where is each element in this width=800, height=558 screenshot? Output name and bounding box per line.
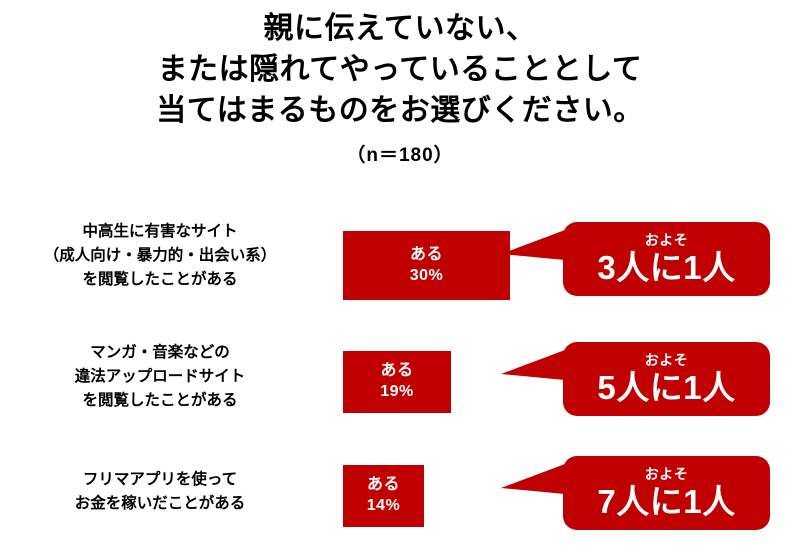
bar-segment: ある 30% <box>343 231 510 300</box>
chart-row: マンガ・音楽などの 違法アップロードサイト を閲覧したことがある ある 19% … <box>0 324 800 440</box>
callout-main-text: 5人に1人 <box>597 369 735 406</box>
row-label-line: マンガ・音楽などの <box>10 341 310 365</box>
callout-small-text: およそ <box>645 466 689 482</box>
bar-percent-value: 19% <box>380 381 414 403</box>
bar-answer-label: ある <box>380 361 413 381</box>
row-label: フリマアプリを使って お金を稼いだことがある <box>10 468 310 516</box>
bar-answer-label: ある <box>410 245 443 265</box>
callout-main-text: 7人に1人 <box>597 483 735 520</box>
callout-small-text: およそ <box>645 232 689 248</box>
callout-tail-icon <box>501 464 565 498</box>
chart-row: 中高生に有害なサイト （成人向け・暴力的・出会い系） を閲覧したことがある ある… <box>0 208 800 324</box>
survey-bar-chart: 中高生に有害なサイト （成人向け・暴力的・出会い系） を閲覧したことがある ある… <box>0 208 800 556</box>
callout-main-text: 3人に1人 <box>597 249 735 286</box>
row-label-line: 違法アップロードサイト <box>10 365 310 389</box>
callout-bubble: およそ 7人に1人 <box>563 456 770 530</box>
row-label-line: を閲覧したことがある <box>10 389 310 413</box>
row-label-line: フリマアプリを使って <box>10 468 310 492</box>
callout-bubble: およそ 3人に1人 <box>563 222 770 296</box>
title-line-1: 親に伝えていない、 <box>0 8 800 49</box>
row-label-line: 中高生に有害なサイト <box>10 220 310 244</box>
title-line-3: 当てはまるものをお選びください。 <box>0 90 800 131</box>
row-label: マンガ・音楽などの 違法アップロードサイト を閲覧したことがある <box>10 341 310 413</box>
row-label-line: を閲覧したことがある <box>10 268 310 292</box>
bar-answer-label: ある <box>367 475 400 495</box>
page-title: 親に伝えていない、 または隠れてやっていることとして 当てはまるものをお選びくだ… <box>0 8 800 167</box>
bar-segment: ある 19% <box>343 351 451 413</box>
callout-bubble: およそ 5人に1人 <box>563 342 770 416</box>
row-label-line: （成人向け・暴力的・出会い系） <box>10 244 310 268</box>
callout-tail-icon <box>501 350 565 384</box>
callout-tail-icon <box>501 230 565 264</box>
bar-segment: ある 14% <box>343 465 424 527</box>
row-label-line: お金を稼いだことがある <box>10 492 310 516</box>
bar-percent-value: 30% <box>410 265 444 287</box>
callout-small-text: およそ <box>645 352 689 368</box>
chart-row: フリマアプリを使って お金を稼いだことがある ある 14% およそ 7人に1人 <box>0 440 800 556</box>
title-line-2: または隠れてやっていることとして <box>0 49 800 90</box>
sample-size-note: （n＝180） <box>0 140 800 167</box>
bar-percent-value: 14% <box>367 495 401 517</box>
row-label: 中高生に有害なサイト （成人向け・暴力的・出会い系） を閲覧したことがある <box>10 220 310 292</box>
